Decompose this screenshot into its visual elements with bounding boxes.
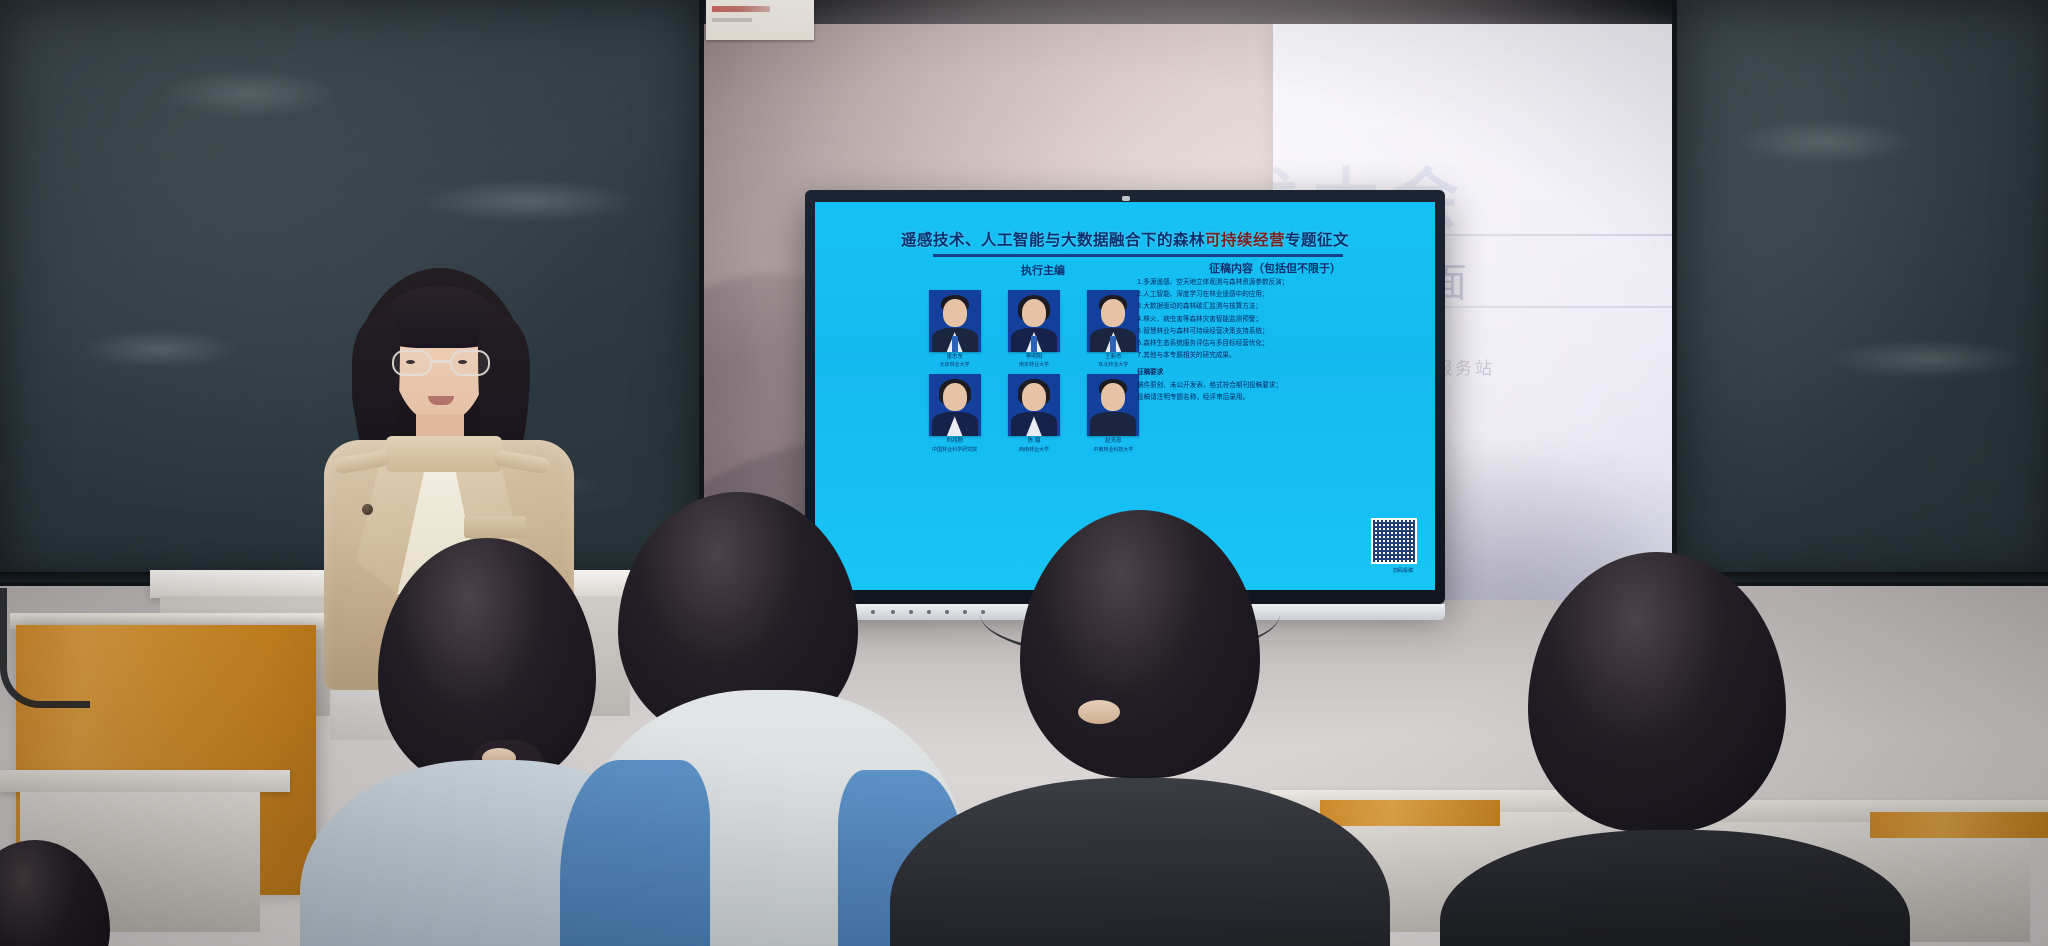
- hair-tie: [1078, 700, 1120, 724]
- slide-title-main: 遥感技术、人工智能与大数据融合下的森林: [901, 231, 1205, 249]
- editor-name: 赵天忠: [1105, 438, 1122, 445]
- student-desk: [0, 770, 290, 792]
- notice-mark: [712, 6, 770, 12]
- agenda-heading: 征稿内容（包括但不限于）: [1135, 260, 1415, 276]
- presenter-pocket: [464, 516, 526, 538]
- editor-name: 李明阳: [1026, 354, 1043, 361]
- editor-affiliation: 东北林业大学: [1098, 361, 1128, 368]
- submission-requirements-heading: 征稿要求: [1137, 366, 1417, 378]
- slide-title-underline: [933, 254, 1343, 257]
- agenda-line: 3.大数据驱动的森林碳汇监测与核算方法；: [1137, 300, 1417, 312]
- editor-affiliation: 西南林业大学: [1019, 446, 1049, 453]
- cable: [0, 588, 90, 708]
- editor-affiliation: 北京林业大学: [940, 361, 970, 368]
- submission-requirement-line: 稿件原创、未公开发表，格式符合期刊投稿要求；: [1137, 379, 1417, 391]
- student-head: [0, 840, 110, 946]
- editor-name: 陈 璐: [1028, 438, 1041, 445]
- agenda-line: 4.林火、病虫害等森林灾害智能监测预警；: [1137, 313, 1417, 325]
- agenda-line: 7.其他与本专题相关的研究成果。: [1137, 349, 1417, 361]
- editor-affiliation: 中国林业科学研究院: [932, 446, 977, 453]
- student-head: [1528, 552, 1786, 832]
- power-indicator-icon: [871, 610, 875, 614]
- student-shirt: [560, 760, 710, 946]
- editor-photo: [1008, 374, 1060, 436]
- notice-mark: [712, 18, 752, 22]
- slide-title-highlight: 可持续经营: [1205, 231, 1285, 249]
- glasses-icon: [392, 350, 490, 376]
- editor-cell: 陈 璐 西南林业大学: [998, 374, 1069, 452]
- agenda-line: 6.森林生态系统服务评估与多目标经营优化；: [1137, 337, 1417, 349]
- editors-heading: 执行主编: [943, 262, 1143, 278]
- editor-affiliation: 南京林业大学: [1019, 361, 1049, 368]
- slide-title: 遥感技术、人工智能与大数据融合下的森林可持续经营专题征文: [815, 228, 1435, 250]
- editor-name: 王新杰: [1105, 354, 1122, 361]
- presenter-collar: [386, 436, 502, 472]
- editor-cell: 李明阳 南京林业大学: [998, 290, 1069, 368]
- volume-up-icon[interactable]: [945, 610, 949, 614]
- coat-button: [362, 504, 373, 515]
- qr-code[interactable]: [1371, 518, 1417, 564]
- agenda-line: 1.多源遥感、空天地立体观测与森林资源参数反演；: [1137, 276, 1417, 288]
- editor-cell: 刘兆刚 中国林业科学研究院: [919, 374, 990, 452]
- editor-photo: [929, 374, 981, 436]
- display-camera-icon: [1122, 196, 1130, 201]
- editor-name: 刘兆刚: [946, 438, 963, 445]
- menu-icon[interactable]: [909, 610, 913, 614]
- student-head: [1020, 510, 1260, 778]
- editor-name: 张志东: [946, 354, 963, 361]
- slide-title-tail: 专题征文: [1285, 231, 1349, 249]
- call-for-papers-list: 1.多源遥感、空天地立体观测与森林资源参数反演； 2.人工智能、深度学习在林业遥…: [1137, 276, 1417, 403]
- editor-photo: [929, 290, 981, 352]
- home-icon[interactable]: [891, 610, 895, 614]
- submission-requirement-line: 投稿请注明专题名称，经评审后录用。: [1137, 391, 1417, 403]
- student-desk-wood: [1320, 800, 1500, 826]
- editor-photo: [1008, 290, 1060, 352]
- agenda-line: 2.人工智能、深度学习在林业遥感中的应用；: [1137, 288, 1417, 300]
- editor-affiliation: 中南林业科技大学: [1093, 446, 1133, 453]
- source-icon[interactable]: [963, 610, 967, 614]
- chalkboard-right: [1672, 0, 2048, 586]
- editor-portrait-grid: 张志东 北京林业大学 李明阳 南京林业大学 王新杰 东北林业大学: [919, 290, 1149, 453]
- editor-photo: [1087, 374, 1139, 436]
- classroom-scene: 术大会 林草新局面 学会、中国林学会会员服务站 遥感技术、人工智能与大数据融合下…: [0, 0, 2048, 946]
- agenda-line: 5.智慧林业与森林可持续经营决策支持系统；: [1137, 325, 1417, 337]
- student-desk-wood: [1870, 812, 2048, 838]
- editor-cell: 张志东 北京林业大学: [919, 290, 990, 368]
- volume-down-icon[interactable]: [927, 610, 931, 614]
- editor-photo: [1087, 290, 1139, 352]
- wall-notice-paper: [706, 0, 814, 40]
